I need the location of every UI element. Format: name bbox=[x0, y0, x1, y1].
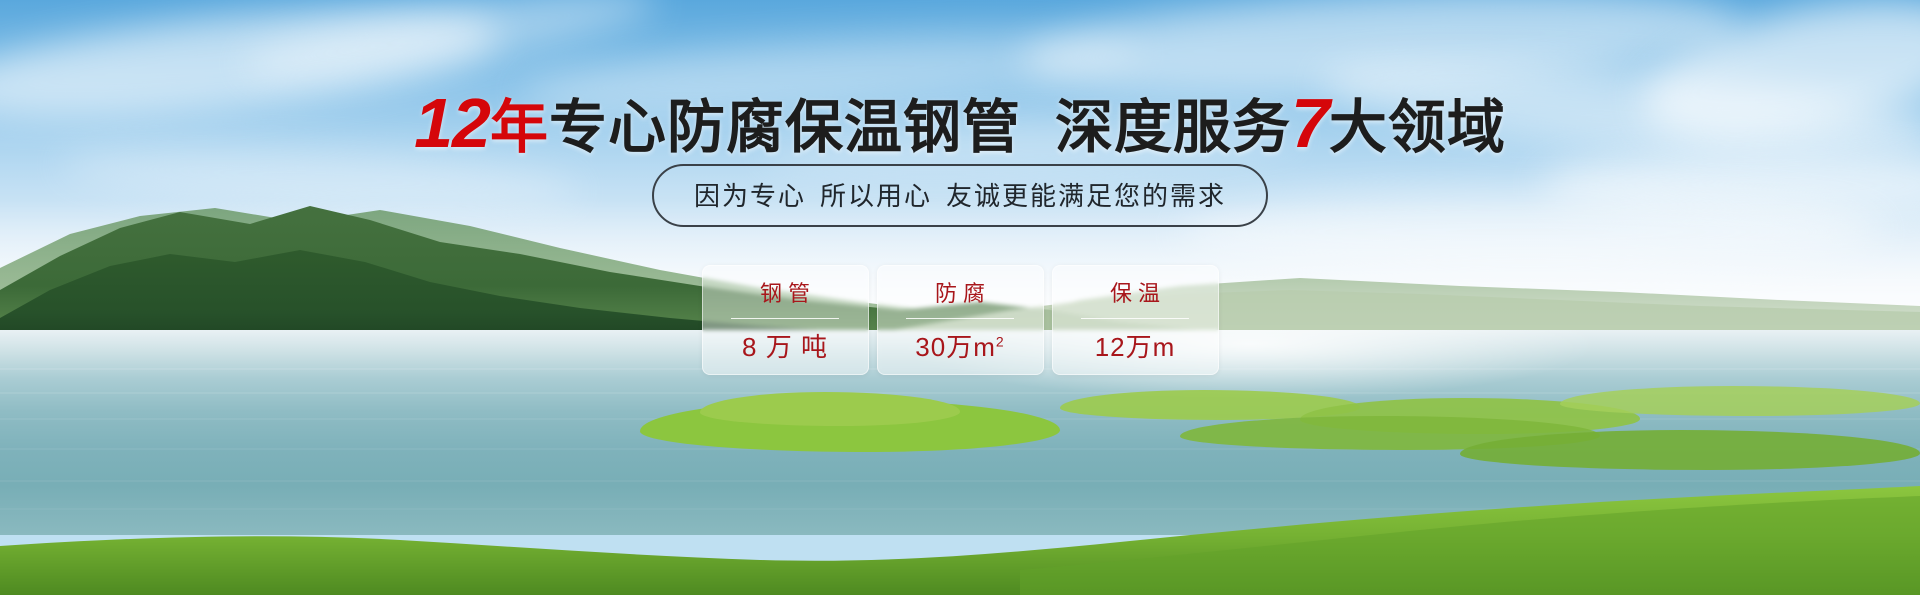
tagline-part-2: 所以用心 bbox=[820, 181, 932, 211]
stat-card-label: 保温 bbox=[1104, 276, 1166, 308]
stat-cards: 钢管 8 万 吨 防腐 30万m2 保温 12万m bbox=[0, 265, 1920, 375]
stat-card-label: 防腐 bbox=[929, 276, 991, 308]
tagline-part-3: 友诚更能满足您的需求 bbox=[946, 181, 1226, 211]
stat-card-value-exponent: 2 bbox=[996, 333, 1005, 349]
stat-card-value-text: 8 万 吨 bbox=[742, 332, 828, 362]
headline-fields-number: 7 bbox=[1291, 84, 1329, 162]
stat-card-divider bbox=[731, 318, 839, 319]
stat-card-value-text: 12万m bbox=[1095, 332, 1176, 362]
stat-card-value-text: 30万m bbox=[915, 332, 996, 362]
stat-card-divider bbox=[906, 318, 1014, 319]
headline-years-unit: 年 bbox=[490, 95, 549, 160]
headline-tail: 大领域 bbox=[1329, 95, 1506, 160]
tagline-pill: 因为专心所以用心友诚更能满足您的需求 bbox=[652, 164, 1268, 227]
stat-card-value: 12万m bbox=[1095, 327, 1176, 364]
stat-card-steel-pipe[interactable]: 钢管 8 万 吨 bbox=[702, 265, 869, 375]
tagline-container: 因为专心所以用心友诚更能满足您的需求 bbox=[0, 164, 1920, 227]
headline-main: 专心防腐保温钢管 bbox=[549, 95, 1021, 160]
stat-card-insulation[interactable]: 保温 12万m bbox=[1052, 265, 1219, 375]
stat-card-value: 8 万 吨 bbox=[742, 327, 828, 364]
stat-card-value: 30万m2 bbox=[915, 327, 1004, 364]
page-title: 12年专心防腐保温钢管深度服务7大领域 bbox=[0, 88, 1920, 158]
tagline-part-1: 因为专心 bbox=[694, 181, 806, 211]
headline-service: 深度服务 bbox=[1055, 95, 1291, 160]
stat-card-anticorrosion[interactable]: 防腐 30万m2 bbox=[877, 265, 1044, 375]
foreground-grass bbox=[0, 420, 1920, 595]
stat-card-divider bbox=[1081, 318, 1189, 319]
headline-years-number: 12 bbox=[414, 84, 490, 162]
marsh-islet bbox=[1560, 386, 1920, 416]
hero-banner: 12年专心防腐保温钢管深度服务7大领域 因为专心所以用心友诚更能满足您的需求 钢… bbox=[0, 0, 1920, 595]
stat-card-label: 钢管 bbox=[754, 276, 816, 308]
